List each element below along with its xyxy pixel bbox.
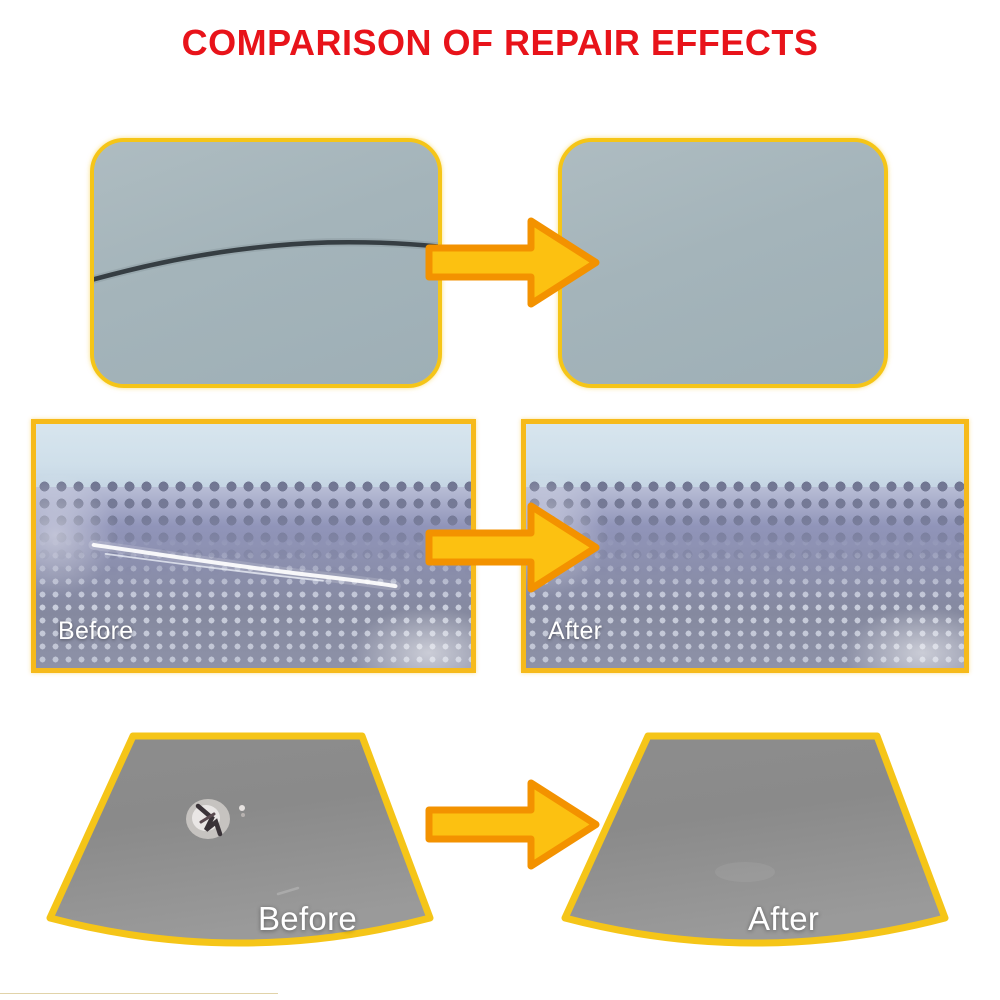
bottom-hairline	[0, 993, 278, 994]
comparison-1-arrow	[425, 215, 600, 310]
glass-surface	[50, 736, 430, 943]
comparison-3-after-panel: After	[545, 722, 965, 962]
glass-surface	[94, 142, 438, 384]
comparison-3-before-label: Before	[258, 900, 357, 938]
comparison-1-after-panel	[558, 138, 888, 388]
comparison-1-before-panel	[90, 138, 442, 388]
surface-sheen	[715, 862, 775, 882]
comparison-3-before-panel: Before	[30, 722, 450, 962]
comparison-2-after-label: After	[548, 617, 602, 646]
page-title: COMPARISON OF REPAIR EFFECTS	[0, 22, 1000, 64]
comparison-2-arrow	[425, 500, 600, 595]
right-arrow-icon	[425, 500, 600, 595]
comparison-2-before-label: Before	[58, 617, 133, 646]
comparison-2-before-panel: Before	[31, 419, 476, 673]
comparison-3-after-label: After	[748, 900, 819, 938]
glare-left	[31, 468, 123, 602]
right-arrow-icon	[425, 215, 600, 310]
glass-surface-repaired	[562, 142, 884, 384]
glare-bottom-right	[341, 600, 477, 673]
comparison-3-arrow	[425, 777, 600, 872]
glare-bottom-right	[833, 600, 969, 673]
right-arrow-icon	[425, 777, 600, 872]
